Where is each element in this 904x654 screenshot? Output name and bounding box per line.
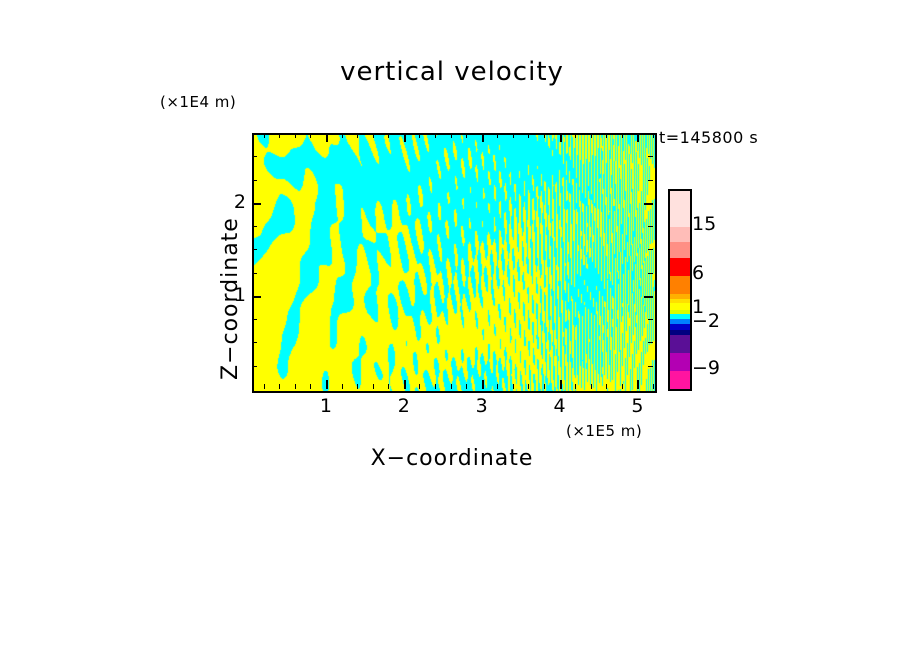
tick-mark	[252, 133, 257, 134]
tick-mark	[252, 226, 257, 227]
tick-mark	[637, 133, 639, 142]
tick-mark	[466, 133, 467, 138]
tick-mark	[653, 133, 654, 138]
tick-mark	[373, 133, 374, 138]
x-tick-label: 3	[462, 395, 502, 417]
tick-mark	[419, 384, 420, 389]
colorbar-label: 15	[692, 213, 716, 235]
tick-mark	[575, 384, 576, 389]
tick-mark	[252, 273, 257, 274]
tick-mark	[482, 133, 484, 142]
tick-mark	[560, 380, 562, 389]
tick-mark	[528, 133, 529, 138]
tick-mark	[637, 380, 639, 389]
tick-mark	[252, 366, 257, 367]
tick-mark	[435, 384, 436, 389]
tick-mark	[591, 133, 592, 138]
tick-mark	[622, 384, 623, 389]
chart-title: vertical velocity	[0, 57, 904, 87]
tick-mark	[648, 249, 653, 250]
y-axis-unit-label: (×1E4 m)	[160, 93, 236, 111]
tick-mark	[310, 133, 311, 138]
tick-mark	[404, 133, 406, 142]
tick-mark	[648, 226, 653, 227]
tick-mark	[264, 384, 265, 389]
tick-mark	[560, 133, 562, 142]
colorbar-band	[670, 276, 690, 294]
tick-mark	[466, 384, 467, 389]
colorbar-band	[670, 353, 690, 371]
x-tick-label: 1	[306, 395, 346, 417]
colorbar-label: 6	[692, 262, 704, 284]
colorbar-band	[670, 371, 690, 389]
tick-mark	[648, 366, 653, 367]
tick-mark	[252, 296, 261, 298]
tick-mark	[482, 380, 484, 389]
tick-mark	[451, 133, 452, 138]
x-tick-label: 2	[384, 395, 424, 417]
colorbar	[668, 189, 692, 391]
tick-mark	[622, 133, 623, 138]
x-tick-label: 4	[540, 395, 580, 417]
y-tick-label: 2	[222, 191, 246, 213]
tick-mark	[252, 180, 257, 181]
tick-mark	[279, 384, 280, 389]
tick-mark	[648, 180, 653, 181]
colorbar-band	[670, 227, 690, 242]
tick-mark	[404, 380, 406, 389]
tick-mark	[388, 133, 389, 138]
tick-mark	[648, 133, 653, 134]
x-axis-unit-label: (×1E5 m)	[566, 422, 642, 440]
tick-mark	[342, 133, 343, 138]
x-axis-title: X−coordinate	[0, 446, 904, 471]
colorbar-band	[670, 258, 690, 276]
tick-mark	[591, 384, 592, 389]
tick-mark	[342, 384, 343, 389]
tick-mark	[648, 273, 653, 274]
tick-mark	[295, 133, 296, 138]
y-tick-label: 1	[222, 284, 246, 306]
tick-mark	[357, 384, 358, 389]
tick-mark	[264, 133, 265, 138]
tick-mark	[648, 156, 653, 157]
tick-mark	[513, 133, 514, 138]
tick-mark	[310, 384, 311, 389]
tick-mark	[252, 342, 257, 343]
tick-mark	[295, 384, 296, 389]
tick-mark	[451, 384, 452, 389]
tick-mark	[575, 133, 576, 138]
colorbar-band	[670, 242, 690, 257]
tick-mark	[326, 133, 328, 142]
tick-mark	[419, 133, 420, 138]
time-annotation: t=145800 s	[659, 128, 758, 147]
colorbar-band	[670, 191, 690, 227]
tick-mark	[252, 319, 257, 320]
tick-mark	[373, 384, 374, 389]
tick-mark	[648, 319, 653, 320]
tick-mark	[252, 203, 261, 205]
plot-area	[252, 133, 657, 393]
tick-mark	[252, 156, 257, 157]
chart-root: vertical velocity (×1E4 m) (×1E5 m) X−co…	[0, 0, 904, 654]
tick-mark	[528, 384, 529, 389]
tick-mark	[648, 342, 653, 343]
tick-mark	[497, 384, 498, 389]
tick-mark	[644, 203, 653, 205]
tick-mark	[653, 384, 654, 389]
tick-mark	[252, 249, 257, 250]
tick-mark	[357, 133, 358, 138]
tick-mark	[606, 133, 607, 138]
tick-mark	[279, 133, 280, 138]
x-tick-label: 5	[617, 395, 657, 417]
tick-mark	[326, 380, 328, 389]
tick-mark	[513, 384, 514, 389]
colorbar-label: −2	[692, 310, 720, 332]
tick-mark	[388, 384, 389, 389]
tick-mark	[544, 384, 545, 389]
contour-field	[254, 135, 655, 391]
tick-mark	[606, 384, 607, 389]
colorbar-label: −9	[692, 357, 720, 379]
tick-mark	[497, 133, 498, 138]
tick-mark	[644, 296, 653, 298]
tick-mark	[544, 133, 545, 138]
colorbar-band	[670, 335, 690, 353]
tick-mark	[435, 133, 436, 138]
